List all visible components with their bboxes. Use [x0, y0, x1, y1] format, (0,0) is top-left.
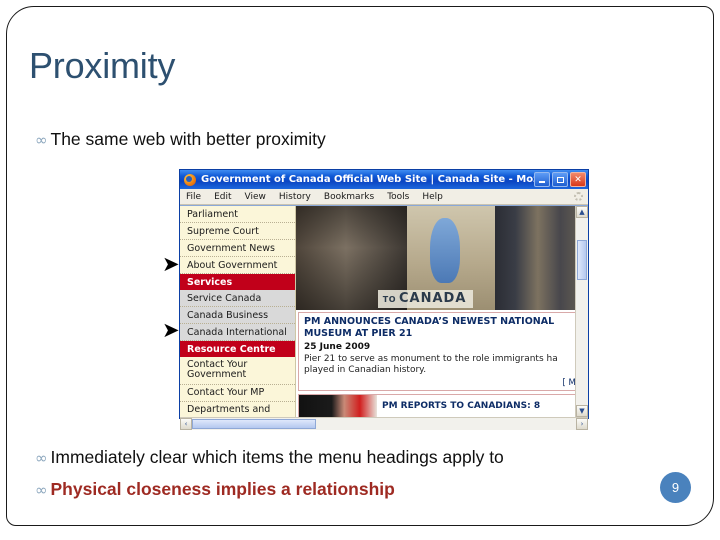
scroll-right-button[interactable]: ›	[576, 418, 588, 430]
nav-heading-resource-centre: Resource Centre	[180, 341, 295, 357]
hero-caption-canada: CANADA	[399, 291, 466, 306]
menu-item-file[interactable]: File	[186, 192, 201, 202]
news-date: 25 June 2009	[304, 342, 581, 352]
vertical-scrollbar-thumb[interactable]	[577, 240, 587, 280]
page-content-column: TO CANADA PM ANNOUNCES CANADA’S NEWEST N…	[296, 206, 588, 417]
bullet-glyph-icon: ∞	[35, 133, 48, 148]
slide-frame: Proximity ∞ The same web with better pro…	[6, 6, 714, 526]
close-button[interactable]: ✕	[570, 172, 586, 187]
hero-caption: TO CANADA	[378, 290, 474, 308]
nav-heading-services: Services	[180, 274, 295, 290]
bullet-text-1: The same web with better proximity	[51, 129, 326, 150]
browser-menubar: File Edit View History Bookmarks Tools H…	[180, 189, 588, 205]
loading-throbber-icon	[574, 192, 583, 201]
bullet-text-3: Physical closeness implies a relationshi…	[51, 479, 395, 500]
scroll-left-button[interactable]: ‹	[180, 418, 192, 430]
horizontal-scrollbar-track[interactable]	[192, 418, 576, 430]
menu-item-tools[interactable]: Tools	[387, 192, 409, 202]
window-controls: ✕	[534, 172, 586, 187]
bullet-item-3: ∞ Physical closeness implies a relations…	[35, 479, 395, 500]
nav-link-departments-and[interactable]: Departments and	[180, 402, 295, 417]
hero-photo-banner: TO CANADA	[296, 206, 588, 310]
menu-item-history[interactable]: History	[279, 192, 311, 202]
browser-titlebar: Government of Canada Official Web Site |…	[180, 170, 588, 189]
news-more-link[interactable]: [ Mo	[304, 378, 581, 388]
scroll-down-button[interactable]: ▼	[576, 405, 588, 417]
browser-title-text: Government of Canada Official Web Site |…	[201, 174, 534, 185]
menu-item-view[interactable]: View	[245, 192, 266, 202]
nav-link-contact-your-mp[interactable]: Contact Your MP	[180, 385, 295, 402]
bullet-glyph-icon: ∞	[35, 451, 48, 466]
news-article-secondary[interactable]: PM REPORTS TO CANADIANS: 8	[298, 394, 586, 417]
horizontal-scrollbar-thumb[interactable]	[192, 419, 316, 429]
scroll-up-button[interactable]: ▲	[576, 206, 588, 218]
nav-link-canada-business[interactable]: Canada Business	[180, 307, 295, 324]
page-title: Proximity	[29, 45, 175, 87]
arrow-pointer-resource-centre-icon: ➤	[162, 320, 180, 341]
nav-link-government-news[interactable]: Government News	[180, 240, 295, 257]
horizontal-scrollbar[interactable]: ‹ ›	[180, 417, 588, 430]
nav-link-supreme-court[interactable]: Supreme Court	[180, 223, 295, 240]
news-headline: PM ANNOUNCES CANADA’S NEWEST NATIONAL MU…	[304, 316, 581, 340]
bullet-glyph-icon: ∞	[35, 483, 48, 498]
minimize-button[interactable]	[534, 172, 550, 187]
bullet-item-2: ∞ Immediately clear which items the menu…	[35, 447, 504, 468]
hero-photo-right	[495, 206, 588, 310]
vertical-scrollbar[interactable]: ▲ ▼	[575, 206, 588, 417]
bullet-item-1: ∞ The same web with better proximity	[35, 129, 326, 150]
page-number-badge: 9	[660, 472, 691, 503]
arrow-pointer-services-icon: ➤	[162, 254, 180, 275]
site-navigation-column: Parliament Supreme Court Government News…	[180, 206, 296, 417]
news-secondary-headline: PM REPORTS TO CANADIANS: 8	[382, 401, 540, 411]
browser-window-screenshot: Government of Canada Official Web Site |…	[179, 169, 589, 419]
nav-link-about-government[interactable]: About Government	[180, 257, 295, 274]
hero-caption-to: TO	[383, 295, 396, 304]
firefox-logo-icon	[184, 174, 196, 186]
menu-item-bookmarks[interactable]: Bookmarks	[324, 192, 374, 202]
nav-link-parliament[interactable]: Parliament	[180, 206, 295, 223]
menu-item-help[interactable]: Help	[422, 192, 443, 202]
page-viewport: Parliament Supreme Court Government News…	[180, 205, 588, 417]
maximize-button[interactable]	[552, 172, 568, 187]
news-thumbnail	[299, 395, 377, 417]
news-article-primary[interactable]: PM ANNOUNCES CANADA’S NEWEST NATIONAL MU…	[298, 312, 586, 391]
menu-item-edit[interactable]: Edit	[214, 192, 231, 202]
nav-link-canada-international[interactable]: Canada International	[180, 324, 295, 341]
news-body: Pier 21 to serve as monument to the role…	[304, 354, 581, 377]
nav-link-contact-your-government[interactable]: Contact Your Government	[180, 357, 295, 385]
bullet-text-2: Immediately clear which items the menu h…	[51, 447, 504, 468]
nav-link-service-canada[interactable]: Service Canada	[180, 290, 295, 307]
